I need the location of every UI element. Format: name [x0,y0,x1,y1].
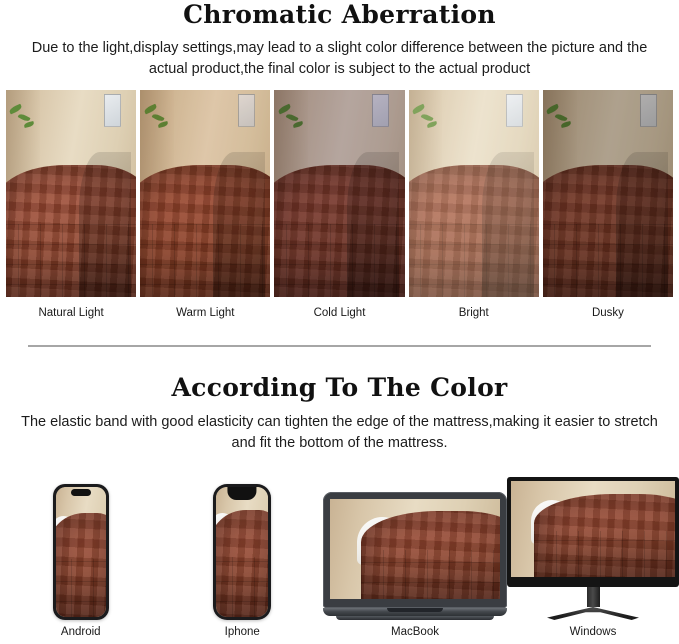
device-cell-android: Android [0,484,162,638]
blanket-drape [347,152,399,297]
blanket-drape [616,152,668,297]
blanket-drape [213,152,265,297]
notch-icon [228,487,257,500]
blanket [56,513,106,617]
lighting-photo-cold-light [274,90,404,297]
plant-leaves-icon [277,98,316,144]
lighting-comparison-strip [6,90,673,297]
lighting-photo-warm-light [140,90,270,297]
blanket-drape [482,152,534,297]
monitor-bezel [507,477,679,587]
android-phone-mockup [53,484,109,620]
device-preview-row: Android Iphone [0,478,679,638]
device-label-macbook: MacBook [391,626,439,638]
android-phone-screen [56,487,106,617]
product-detail-page: Chromatic Aberration Due to the light,di… [0,0,679,644]
lighting-photo-bright [409,90,539,297]
blanket-scene [409,90,539,297]
wall-frame [372,94,389,127]
macbook-foot [336,616,494,620]
plant-leaves-icon [545,98,584,144]
chromatic-aberration-description: Due to the light,display settings,may le… [0,38,679,80]
blanket-scene [543,90,673,297]
blanket-drape [79,152,131,297]
lighting-label-warm-light: Warm Light [140,307,270,319]
device-cell-windows: Windows [507,477,679,638]
blanket [216,510,268,617]
punch-hole-camera-icon [71,489,91,496]
macbook-screen [330,499,500,599]
macbook-trackpad-notch [387,608,443,612]
macbook-lid [323,492,507,608]
section-divider [28,345,651,347]
wall-frame [506,94,523,127]
blanket [361,511,500,599]
lighting-photo-natural-light [6,90,136,297]
wall-frame [104,94,121,127]
plant-leaves-icon [411,98,450,144]
according-to-the-color-description: The elastic band with good elasticity ca… [0,412,679,454]
monitor-neck [587,587,600,607]
blanket-scene [274,90,404,297]
monitor-base [547,607,639,620]
device-label-android: Android [61,626,101,638]
wall-frame [640,94,657,127]
page-title-according-to-the-color: According To The Color [0,375,679,400]
wall-frame [238,94,255,127]
device-cell-macbook: MacBook [323,492,507,638]
page-title-chromatic-aberration: Chromatic Aberration [0,2,679,27]
macbook-mockup [323,492,507,620]
device-cell-iphone: Iphone [162,484,324,638]
iphone-screen [216,487,268,617]
iphone-mockup [213,484,271,620]
lighting-photo-dusky [543,90,673,297]
macbook-base [323,608,507,616]
lighting-label-natural-light: Natural Light [6,307,136,319]
lighting-label-row: Natural Light Warm Light Cold Light Brig… [6,307,673,319]
monitor-screen [511,481,675,577]
lighting-label-dusky: Dusky [543,307,673,319]
lighting-label-bright: Bright [409,307,539,319]
plant-leaves-icon [9,98,48,144]
windows-monitor-mockup [507,477,679,620]
device-label-windows: Windows [570,626,617,638]
device-label-iphone: Iphone [225,626,260,638]
blanket-scene [6,90,136,297]
plant-leaves-icon [143,98,182,144]
lighting-label-cold-light: Cold Light [274,307,404,319]
blanket [534,494,675,577]
blanket-scene [140,90,270,297]
